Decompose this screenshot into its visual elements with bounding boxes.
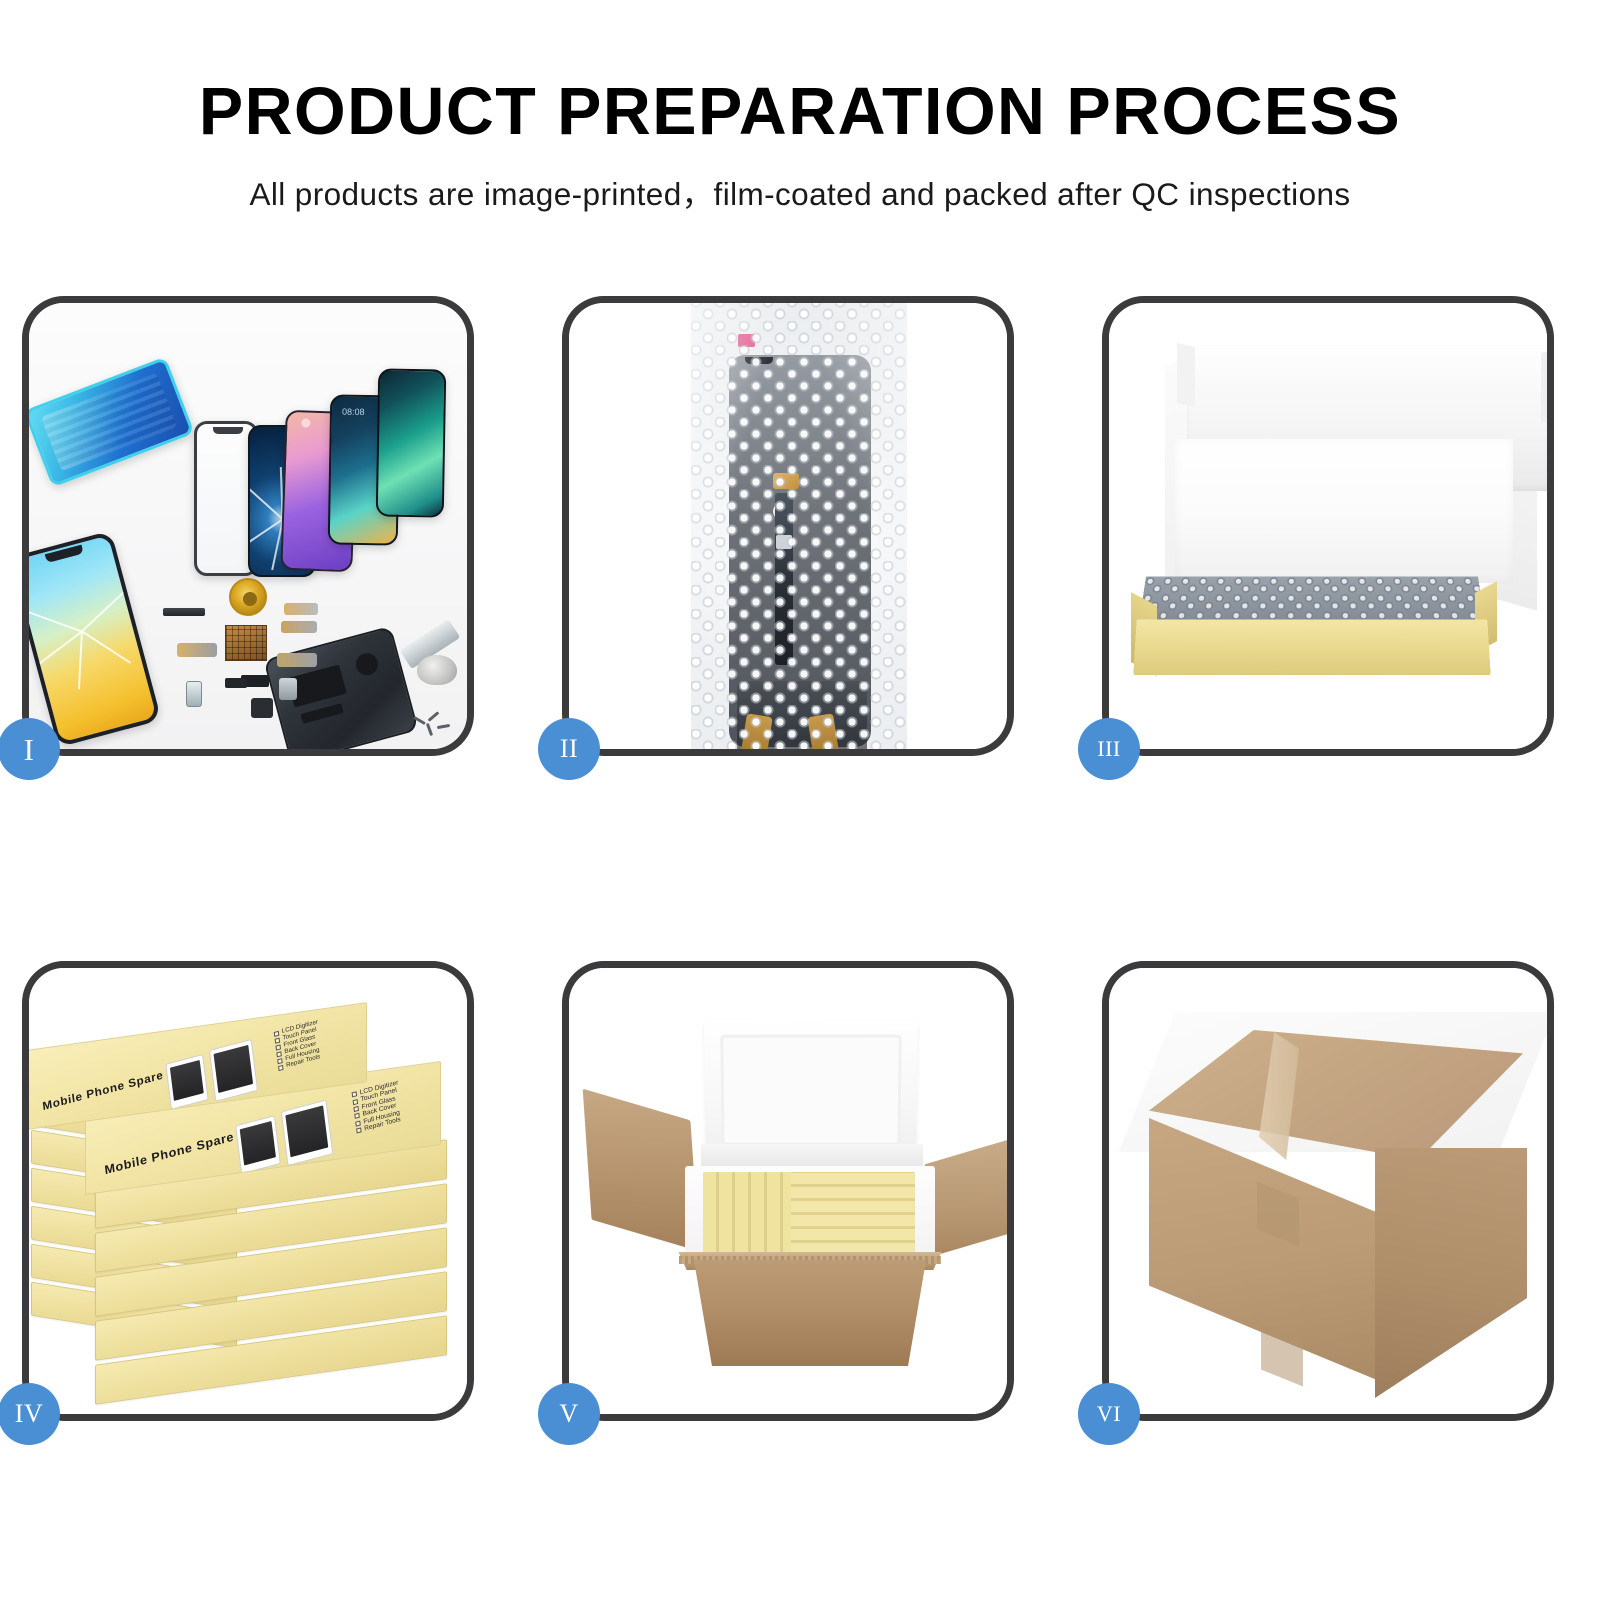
step-badge-6: VI — [1078, 1383, 1140, 1445]
step-5-image — [569, 968, 1007, 1414]
process-step-2: II — [562, 296, 1014, 756]
infographic-page: PRODUCT PREPARATION PROCESS All products… — [0, 0, 1600, 1600]
step-badge-1: I — [0, 718, 60, 780]
white-foam-sheet-icon — [1175, 439, 1513, 583]
process-step-4: Mobile Phone Spare Parts LCD Digitizer T… — [22, 961, 474, 1421]
carton-flap-left — [583, 1089, 700, 1252]
header: PRODUCT PREPARATION PROCESS All products… — [0, 0, 1600, 215]
step-badge-2: II — [538, 718, 600, 780]
flex-cable-icon — [284, 603, 318, 615]
box-checklist: LCD Digitizer Touch Panel Front Glass Ba… — [274, 1019, 323, 1071]
step-3-image — [1109, 303, 1547, 749]
step-4-image: Mobile Phone Spare Parts LCD Digitizer T… — [29, 968, 467, 1414]
bubble-wrap-sleeve — [691, 303, 907, 749]
step-badge-5: V — [538, 1383, 600, 1445]
step-2-image — [569, 303, 1007, 749]
bubble-texture — [691, 303, 907, 749]
phone-thumbnail — [281, 1099, 333, 1166]
gold-box-front-face — [1133, 619, 1490, 675]
brush-icon — [417, 655, 457, 685]
phone-thumbnail — [209, 1039, 258, 1102]
process-step-grid: 08:08 — [22, 296, 1578, 1421]
phone-thumbnail — [165, 1054, 208, 1110]
sim-tray-icon — [186, 681, 202, 707]
power-button-icon — [225, 678, 247, 688]
process-step-6: VI — [1102, 961, 1554, 1421]
step-6-image — [1109, 968, 1547, 1414]
camera-module-icon — [279, 678, 297, 700]
green-phone-icon — [376, 368, 447, 517]
process-step-5: V — [562, 961, 1014, 1421]
speaker-icon — [251, 698, 273, 718]
step-1-image: 08:08 — [29, 303, 467, 749]
page-title: PRODUCT PREPARATION PROCESS — [8, 78, 1592, 145]
flex-cable-icon — [177, 643, 217, 657]
flex-cable-icon — [277, 653, 317, 667]
screws-icon — [413, 715, 453, 737]
step-badge-4: IV — [0, 1383, 60, 1445]
process-step-1: 08:08 — [22, 296, 474, 756]
carton-front-face — [681, 1260, 939, 1366]
box-checklist: LCD Digitizer Touch Panel Front Glass Ba… — [351, 1079, 403, 1134]
phone-thumbnail — [235, 1115, 281, 1174]
vibration-coil-icon — [229, 578, 267, 616]
gold-boxes-fill-right — [791, 1172, 915, 1254]
copper-chip-icon — [225, 625, 267, 661]
carton-right-face — [1375, 1148, 1527, 1398]
page-subtitle: All products are image-printed，film-coat… — [0, 169, 1600, 215]
flex-cable-icon — [281, 621, 317, 633]
step-badge-3: III — [1078, 718, 1140, 780]
process-step-3: III — [1102, 296, 1554, 756]
earpiece-bar-icon — [163, 608, 205, 616]
